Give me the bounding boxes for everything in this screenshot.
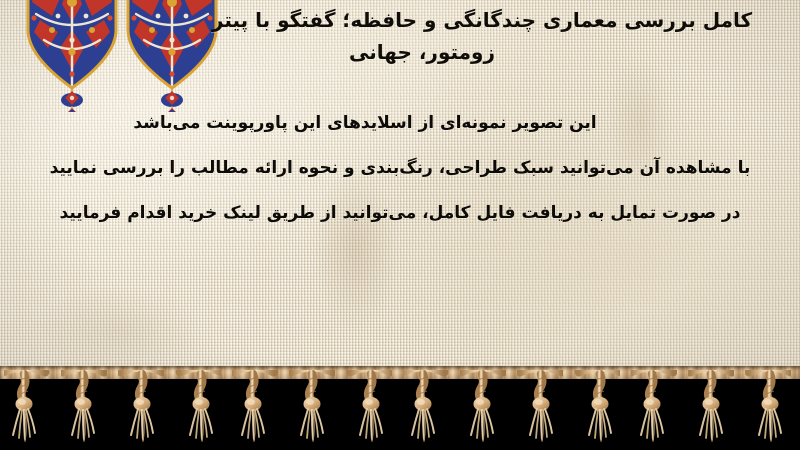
fringe-tassel [688,370,734,450]
slide-title: کامل بررسی معماری چندگانگی و حافظه؛ گفتگ… [182,4,782,68]
fringe-tassel [4,370,50,450]
body-line-3: در صورت تمایل به دریافت فایل کامل، می‌تو… [0,202,800,224]
fringe-tassel [574,370,620,450]
body-line-2: با مشاهده آن می‌توانید سبک طراحی، رنگ‌بن… [0,157,800,179]
fringe-tassel [118,370,164,450]
fringe-tassel [61,370,107,450]
fringe-tassel [631,370,677,450]
fringe-tassel [403,370,449,450]
carpet-fringe-border [0,366,800,450]
slide-title-line-1: کامل بررسی معماری چندگانگی و حافظه؛ گفتگ… [182,4,782,36]
slide-body-text: این تصویر نمونه‌ای از اسلایدهای این پاور… [0,112,800,224]
fringe-tassel [289,370,335,450]
body-line-1: این تصویر نمونه‌ای از اسلایدهای این پاور… [0,112,800,134]
carpet-medallion-ornament-1 [22,0,122,112]
fringe-tassel [460,370,506,450]
fringe-tassel [517,370,563,450]
fringe-tassel [745,370,791,450]
fringe-tassel [346,370,392,450]
slide-title-line-2: زومتور، جهانی [182,36,782,68]
slide-canvas: کامل بررسی معماری چندگانگی و حافظه؛ گفتگ… [0,0,800,450]
fringe-tassel [232,370,278,450]
fringe-tassel [175,370,221,450]
